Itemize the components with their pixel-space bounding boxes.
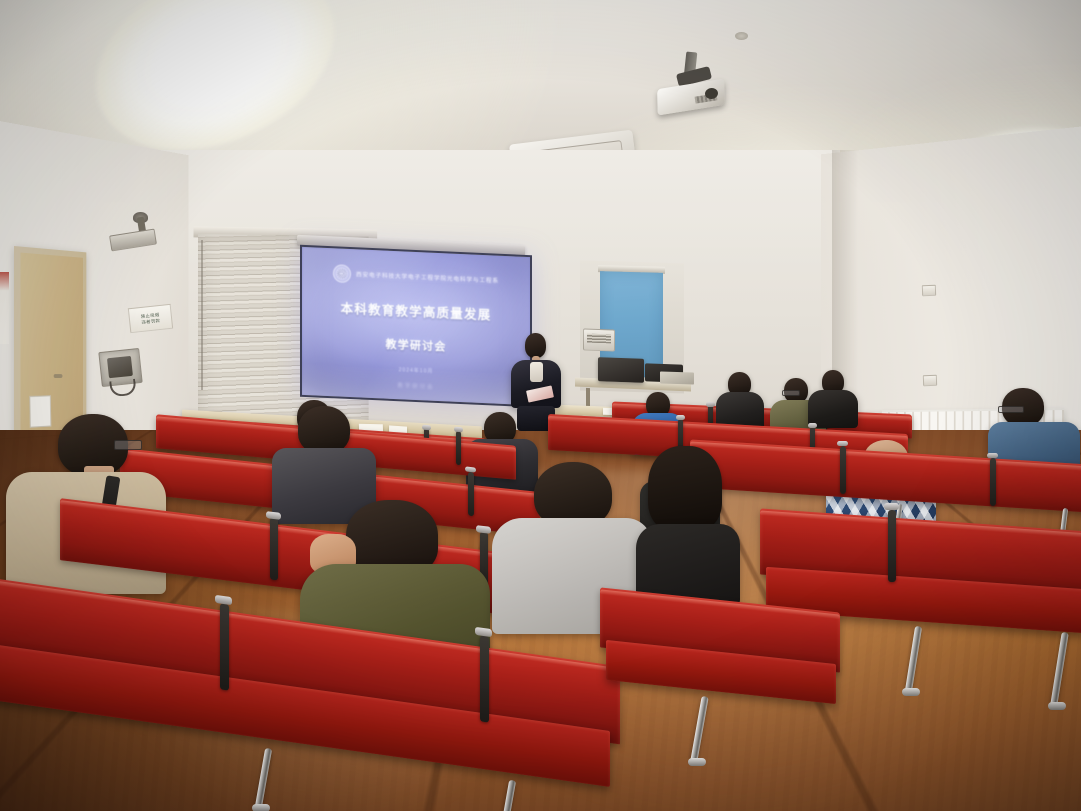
glasses-icon [998, 406, 1024, 413]
wall-ac-unit-icon [583, 328, 615, 351]
wall-outlet-icon [922, 285, 936, 296]
attendee-head [648, 446, 722, 532]
door-side-marker [0, 272, 9, 344]
presenter-top [530, 362, 543, 382]
presenter-head [525, 333, 546, 358]
attendee-black-jacket-2 [808, 370, 858, 428]
projection-screen: 西安电子科技大学电子工程学院光电科学与工程系 本科教育教学高质量发展 教学研讨会… [300, 245, 532, 408]
attendee-dark-hair-woman [634, 446, 742, 606]
seat-row[interactable] [0, 620, 620, 810]
attendee-black-jacket-1 [716, 372, 764, 430]
blinds-cord[interactable] [201, 240, 203, 390]
ceiling-projector-icon [655, 62, 727, 110]
av-equipment[interactable] [660, 371, 694, 384]
wall-sign: 禁止吸烟 违者罚款 [128, 304, 173, 333]
seat-row[interactable] [600, 600, 840, 770]
door-handle-icon[interactable] [54, 374, 63, 378]
seminar-room-photo: 禁止吸烟 违者罚款 西安电子科技大学电子工程学院光电科学与工程系 本科教育教学高… [0, 0, 1081, 811]
wall-outlet-icon [923, 375, 937, 386]
smoke-detector-icon [735, 32, 748, 40]
glasses-icon [782, 390, 800, 396]
wall-sign-line2: 违者罚款 [141, 318, 160, 326]
glasses-icon [114, 440, 142, 450]
av-equipment[interactable] [598, 357, 644, 383]
